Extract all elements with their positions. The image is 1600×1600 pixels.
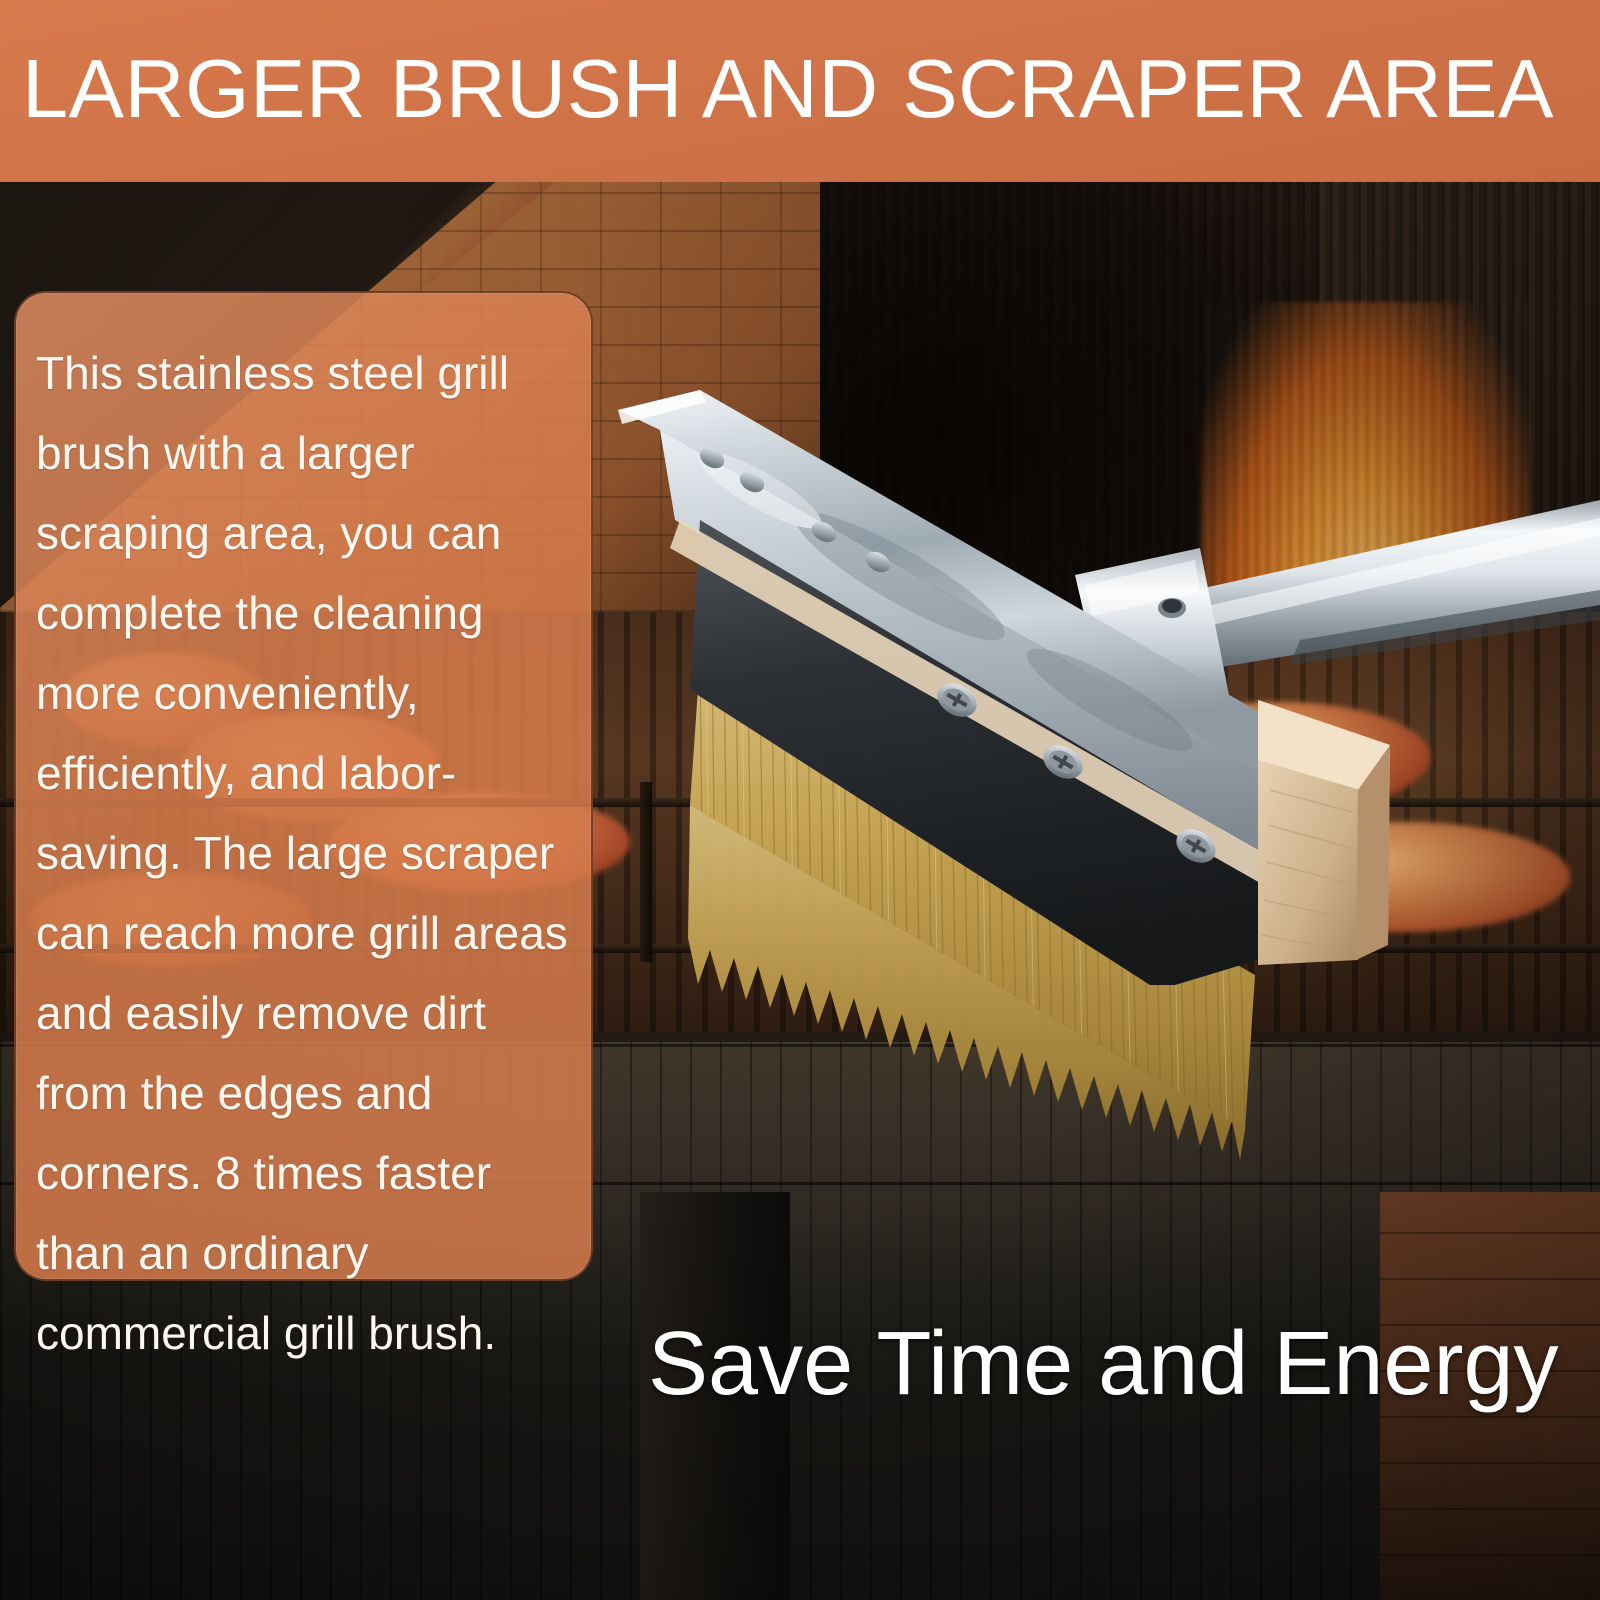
wooden-brush-block: [1258, 700, 1390, 965]
description-text: This stainless steel grill brush with a …: [36, 333, 577, 1373]
product-marketing-image: LARGER BRUSH AND SCRAPER AREA This stain…: [0, 0, 1600, 1600]
page-title: LARGER BRUSH AND SCRAPER AREA: [22, 46, 1582, 132]
description-panel: This stainless steel grill brush with a …: [14, 291, 593, 1281]
bottom-caption: Save Time and Energy: [648, 1316, 1559, 1412]
header-banner: LARGER BRUSH AND SCRAPER AREA: [0, 0, 1600, 182]
